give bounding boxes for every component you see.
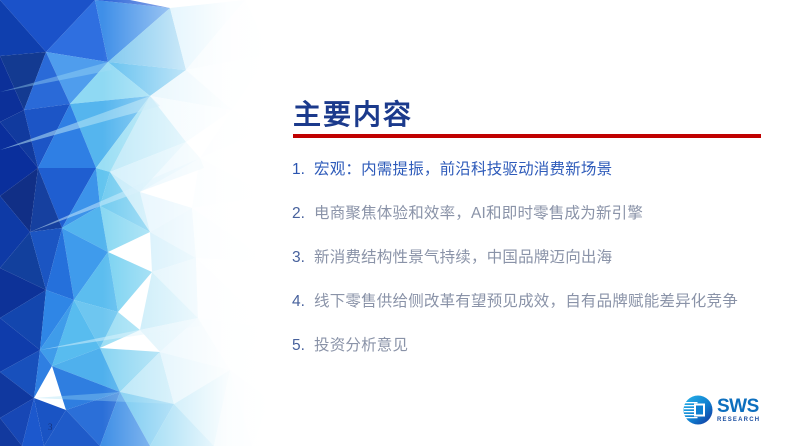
- agenda-item-4-label: 线下零售供给侧改革有望预见成效，自有品牌赋能差异化竞争: [314, 290, 742, 313]
- agenda-item-3-number: 3.: [292, 246, 314, 269]
- agenda-item-1-number: 1.: [292, 158, 314, 181]
- agenda-item-2-number: 2.: [292, 202, 314, 225]
- agenda-item-1-label: 宏观：内需提振，前沿科技驱动消费新场景: [314, 158, 742, 181]
- slide-canvas: 3 主要内容 1. 宏观：内需提振，前沿科技驱动消费新场景 2. 电商聚焦体验和…: [0, 0, 793, 446]
- title-block: 主要内容: [293, 98, 763, 138]
- agenda-item-2-label: 电商聚焦体验和效率，AI和即时零售成为新引擎: [314, 202, 742, 225]
- sws-wordmark: SWS: [717, 397, 760, 416]
- agenda-item-5-number: 5.: [292, 334, 314, 357]
- agenda-item-1[interactable]: 1. 宏观：内需提振，前沿科技驱动消费新场景: [292, 158, 742, 181]
- agenda-item-2[interactable]: 2. 电商聚焦体验和效率，AI和即时零售成为新引擎: [292, 202, 742, 225]
- low-poly-svg: [0, 0, 270, 446]
- agenda-item-4-number: 4.: [292, 290, 314, 313]
- agenda-item-4[interactable]: 4. 线下零售供给侧改革有望预见成效，自有品牌赋能差异化竞争: [292, 290, 742, 313]
- sws-research-logo: SWS RESEARCH: [683, 392, 779, 428]
- agenda-item-3-label: 新消费结构性景气持续，中国品牌迈向出海: [314, 246, 742, 269]
- agenda-list: 1. 宏观：内需提振，前沿科技驱动消费新场景 2. 电商聚焦体验和效率，AI和即…: [292, 158, 742, 378]
- page-number: 3: [48, 422, 53, 432]
- agenda-item-5-label: 投资分析意见: [314, 334, 742, 357]
- sws-circle-mark-icon: [683, 395, 713, 425]
- low-poly-blue-graphic: 3: [0, 0, 270, 446]
- agenda-item-3[interactable]: 3. 新消费结构性景气持续，中国品牌迈向出海: [292, 246, 742, 269]
- sws-wordmark-group: SWS RESEARCH: [717, 397, 760, 423]
- title-underline-rule: [293, 134, 761, 138]
- page-title: 主要内容: [293, 98, 763, 132]
- agenda-item-5[interactable]: 5. 投资分析意见: [292, 334, 742, 357]
- sws-research-subtitle: RESEARCH: [717, 417, 760, 423]
